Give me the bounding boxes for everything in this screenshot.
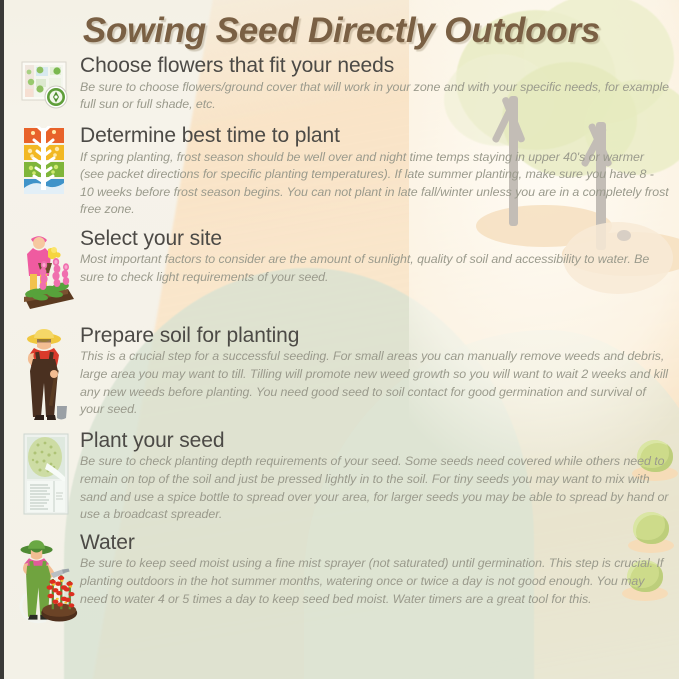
step-title: Determine best time to plant	[80, 124, 669, 148]
step-description: Be sure to choose flowers/ground cover t…	[80, 79, 669, 114]
step-item-determine-time: Determine best time to plant If spring p…	[4, 124, 679, 219]
step-icon-slot	[12, 227, 80, 315]
step-text: Select your site Most important factors …	[80, 227, 679, 287]
step-title: Prepare soil for planting	[80, 324, 669, 348]
step-icon-slot	[12, 429, 80, 517]
step-item-choose-flowers: Choose flowers that fit your needs Be su…	[4, 54, 679, 116]
step-item-plant-seed: Plant your seed Be sure to check plantin…	[4, 429, 679, 524]
gardener-watering-flowers-icon	[12, 533, 80, 625]
step-description: Be sure to check planting depth requirem…	[80, 453, 669, 523]
step-description: This is a crucial step for a successful …	[80, 348, 669, 418]
gardener-with-shovel-icon	[16, 326, 76, 422]
step-icon-slot	[12, 324, 80, 422]
gardener-with-flower-tray-icon	[14, 229, 78, 315]
step-icon-slot	[12, 124, 80, 196]
step-icon-slot	[12, 531, 80, 625]
page-title: Sowing Seed Directly Outdoors	[4, 0, 679, 51]
step-description: Be sure to keep seed moist using a fine …	[80, 555, 669, 608]
seed-packet-icon	[17, 431, 75, 517]
step-title: Select your site	[80, 227, 669, 251]
step-title: Choose flowers that fit your needs	[80, 54, 669, 78]
step-text: Determine best time to plant If spring p…	[80, 124, 679, 219]
step-text: Choose flowers that fit your needs Be su…	[80, 54, 679, 114]
garden-plan-compass-icon	[16, 56, 76, 116]
infographic-poster: Sowing Seed Directly Outdoors	[0, 0, 679, 679]
steps-list: Choose flowers that fit your needs Be su…	[4, 54, 679, 625]
poster-content: Sowing Seed Directly Outdoors	[4, 0, 679, 625]
step-description: If spring planting, frost season should …	[80, 149, 669, 219]
step-icon-slot	[12, 54, 80, 116]
step-item-water: Water Be sure to keep seed moist using a…	[4, 531, 679, 625]
step-title: Plant your seed	[80, 429, 669, 453]
step-text: Water Be sure to keep seed moist using a…	[80, 531, 679, 608]
step-title: Water	[80, 531, 669, 555]
step-description: Most important factors to consider are t…	[80, 251, 669, 286]
step-item-prepare-soil: Prepare soil for planting This is a cruc…	[4, 324, 679, 422]
step-item-select-site: Select your site Most important factors …	[4, 227, 679, 315]
step-text: Prepare soil for planting This is a cruc…	[80, 324, 679, 419]
step-text: Plant your seed Be sure to check plantin…	[80, 429, 679, 524]
four-seasons-tree-icon	[20, 126, 72, 196]
